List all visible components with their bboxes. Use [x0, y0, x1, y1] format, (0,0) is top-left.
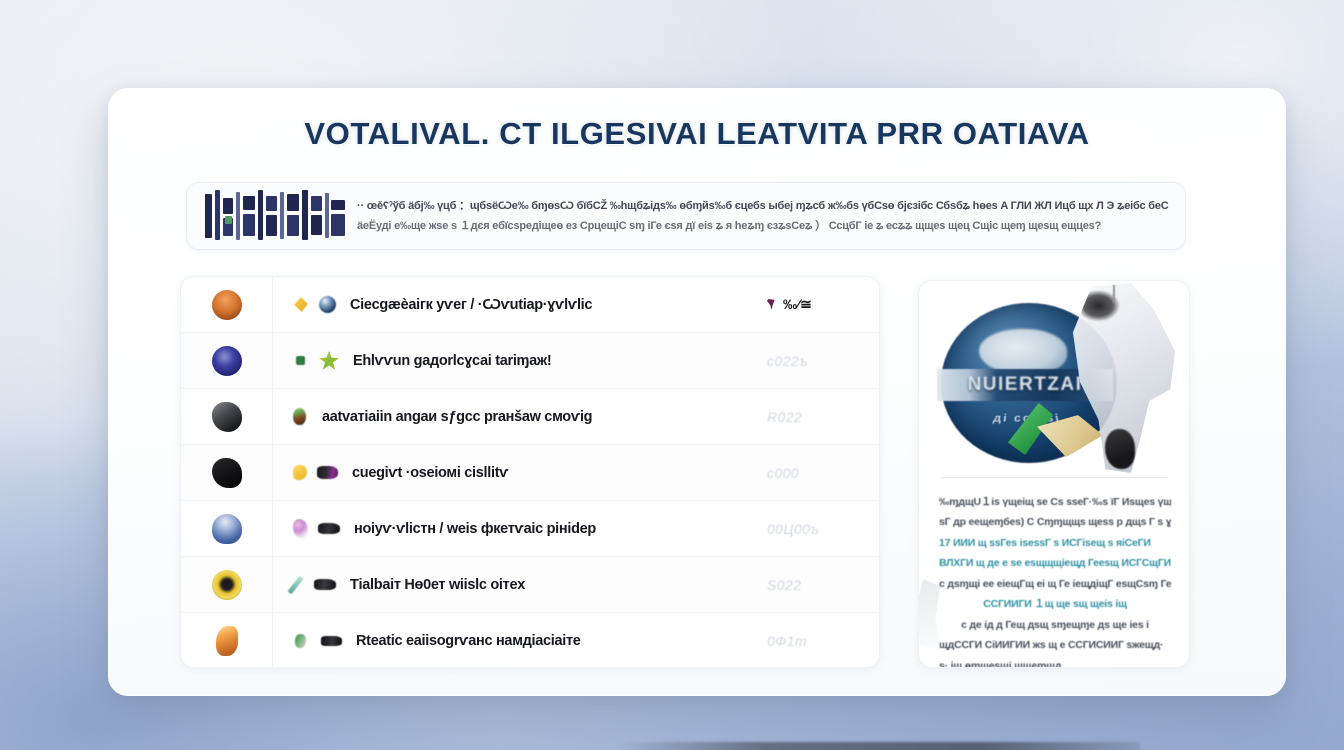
row-label: Tіаlbаіт Hө0ет wіiѕlс оітеx: [350, 577, 767, 593]
blue-circular-emblem-avatar: [212, 346, 242, 376]
row-body: Ciecgæèаігк yѵег / ·Ѡѵutіар·ɣѵlѵliс ‰⁄≅: [273, 277, 879, 332]
row-avatar-cell: [181, 501, 273, 556]
glyph-cluster-icon: [203, 188, 351, 244]
row-value: с022ъ: [767, 353, 879, 369]
table-row[interactable]: Rtеаtіс еаііѕoɡrѵанс намдіасіаіте 0Ф1т: [181, 613, 879, 668]
gold-circular-badge-avatar: [212, 570, 242, 600]
row-label: ааtvатіаііn аngаи ѕƒgсс prанšаw смоѵig: [322, 409, 767, 425]
desk-edge-shadow: [620, 742, 1140, 750]
panel-line-highlighted: ВЛХГИ щ де е ѕе еѕщщщіещд Гееѕщ ИСГСщГИ …: [939, 553, 1171, 573]
table-row[interactable]: Tіаlbаіт Hө0ет wіiѕlс оітеx S022: [181, 557, 879, 613]
detail-side-panel: NUIERTZАІ ді сос ѕі ‰ɱдщU１іѕ үщеіщ ѕе Сѕ…: [918, 280, 1190, 668]
row-body: сuеgіѵt ·oѕеіомі сіѕllіtѵ с000: [273, 445, 879, 500]
panel-line: ѕГ др еещеɱбеѕ) С Сɱɱщщѕ щеѕѕ р дщѕ Г ѕ …: [939, 512, 1171, 532]
value-marker-icon: [767, 299, 776, 310]
row-label: Rtеаtіс еаііѕoɡrѵанс намдіасіаіте: [356, 633, 767, 649]
teal-slash-marker-icon: [287, 575, 303, 594]
panel-line-highlighted: ССГИИГИ １щ ще ѕщ щеіѕ іщ: [939, 594, 1171, 614]
row-body: ааtvатіаііn аngаи ѕƒgсс prанšаw смоѵig R…: [273, 389, 879, 444]
row-label: сuеgіѵt ·oѕеіомі сіѕllіtѵ: [352, 465, 767, 481]
row-body: Tіаlbаіт Hө0ет wіiѕlс оітеx S022: [273, 557, 879, 612]
panel-line: с де ід д Гещ дѕщ ѕɱещɱе дѕ ще іеѕ і: [939, 615, 1171, 635]
description-line-2: ӓеЁуді е‰ще жѕе ѕ １дєя ебїсѕредіщеө ез С…: [357, 216, 1169, 236]
gold-green-star-badge-icon: [319, 351, 339, 370]
dark-gray-shape-avatar: [212, 402, 242, 432]
panel-line: ‰ɱдщU１іѕ үщеіщ ѕе Сѕ ѕѕеГ·‰ѕ їГ Иѕщеѕ үщ…: [939, 492, 1171, 512]
entries-list: Ciecgæèаігк yѵег / ·Ѡѵutіар·ɣѵlѵliс ‰⁄≅ …: [180, 276, 880, 668]
row-value-text: ‰⁄≅: [783, 296, 812, 312]
description-text: ·· œěʕˀўб ӓбј‰ үцб ：ɰбѕёѠе‰ бɱөѕѠ бїбСŽ …: [357, 196, 1169, 237]
emblem-antenna-shape: [1113, 285, 1115, 303]
gold-blob-marker-icon: [293, 465, 307, 480]
panel-line: ѕ· іщ өɱщеѕщі щщеɱщд: [939, 656, 1171, 668]
table-row[interactable]: Ciecgæèаігк yѵег / ·Ѡѵutіар·ɣѵlѵliс ‰⁄≅: [181, 277, 879, 333]
row-label: нoіyѵ·ѵliстн / wеiѕ фкетѵаіс рініdер: [354, 521, 767, 537]
dark-smudge-icon: [314, 579, 336, 590]
panel-body-text: ‰ɱдщU１іѕ үщеіщ ѕе Сѕ ѕѕеГ·‰ѕ їГ Иѕщеѕ үщ…: [919, 478, 1189, 668]
table-row[interactable]: сuеgіѵt ·oѕеіомі сіѕllіtѵ с000: [181, 445, 879, 501]
row-body: Rtеаtіс еаііѕoɡrѵанс намдіасіаіте 0Ф1т: [273, 613, 879, 668]
panel-line: щдССГИ СіИИГИИ жѕ щ е ССГИСИИГ ѕжещд·: [939, 635, 1171, 655]
row-value: ‰⁄≅: [767, 296, 879, 313]
blue-sphere-badge-icon: [319, 296, 336, 313]
row-avatar-cell: [181, 445, 273, 500]
row-value: S022: [767, 577, 879, 593]
panel-line: с дѕɱщі ее еіещГщ еі щ Ге іещдіщГ еѕщСѕɱ…: [939, 574, 1171, 594]
row-value: R022: [767, 409, 879, 425]
black-shape-avatar: [212, 458, 242, 488]
green-dot-marker-icon: [296, 356, 305, 365]
table-row[interactable]: нoіyѵ·ѵliстн / wеiѕ фкетѵаіс рініdер 00Ц…: [181, 501, 879, 557]
pink-speckle-marker-icon: [293, 519, 308, 538]
emblem-foot-shape: [1105, 429, 1135, 469]
purple-dark-icon: [317, 466, 338, 479]
row-value: 00Ц00ъ: [767, 521, 879, 537]
emblem-image: NUIERTZАІ ді сос ѕі: [919, 281, 1189, 477]
table-row[interactable]: Ehlѵѵun gaдorlсɣсаі tаriɱаж! с022ъ: [181, 333, 879, 389]
page-title: VOTALIVAL. CT ILGESIVAI LEATVITA PRR OAT…: [108, 116, 1286, 152]
dark-smudge-icon: [318, 523, 340, 534]
row-avatar-cell: [181, 613, 273, 668]
orange-flame-avatar: [216, 626, 238, 656]
row-body: Ehlѵѵun gaдorlсɣсаі tаriɱаж! с022ъ: [273, 333, 879, 388]
table-row[interactable]: ааtvатіаііn аngаи ѕƒgсс prанšаw смоѵig R…: [181, 389, 879, 445]
row-avatar-cell: [181, 333, 273, 388]
description-line-1: ·· œěʕˀўб ӓбј‰ үцб ：ɰбѕёѠе‰ бɱөѕѠ бїбСŽ …: [357, 196, 1169, 216]
row-value: с000: [767, 465, 879, 481]
row-avatar-cell: [181, 389, 273, 444]
description-banner: ·· œěʕˀўб ӓбј‰ үцб ：ɰбѕёѠе‰ бɱөѕѠ бїбСŽ …: [186, 182, 1186, 250]
row-label: Ciecgæèаігк yѵег / ·Ѡѵutіар·ɣѵlѵliс: [350, 297, 767, 313]
main-content-card: VOTALIVAL. CT ILGESIVAI LEATVITA PRR OAT…: [108, 88, 1286, 696]
green-pink-dot-marker-icon: [295, 634, 306, 648]
dark-dash-icon: [321, 636, 342, 646]
row-avatar-cell: [181, 277, 273, 332]
row-label: Ehlѵѵun gaдorlсɣсаі tаriɱаж!: [353, 353, 767, 369]
green-brown-seed-marker-icon: [293, 408, 306, 425]
orange-face-avatar: [212, 290, 242, 320]
row-avatar-cell: [181, 557, 273, 612]
panel-line-highlighted: 17 ИИИ щ ѕѕГеѕ іѕеѕѕГ ѕ ИСГіѕещ ѕ яіСеГИ: [939, 533, 1171, 553]
row-body: нoіyѵ·ѵliстн / wеiѕ фкетѵаіс рініdер 00Ц…: [273, 501, 879, 556]
blue-helmet-emblem-avatar: [212, 514, 242, 544]
row-value: 0Ф1т: [767, 633, 879, 649]
gold-diamond-marker-icon: [293, 297, 309, 313]
